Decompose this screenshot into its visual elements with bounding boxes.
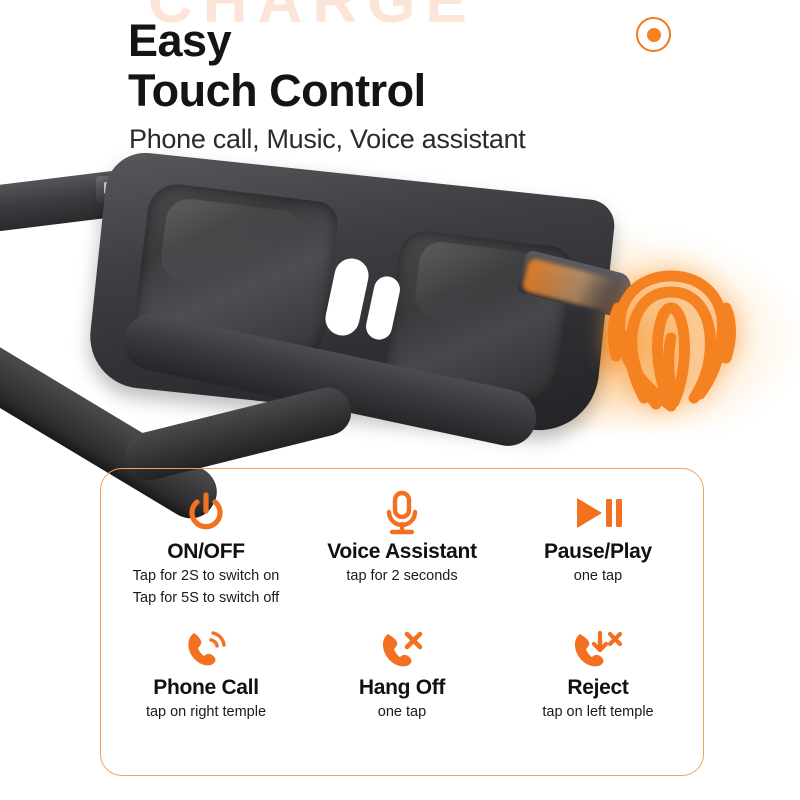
feature-grid: ON/OFF Tap for 2S to switch on Tap for 5… — [100, 468, 704, 776]
feature-sub-line2: Tap for 5S to switch off — [133, 589, 279, 608]
power-icon — [186, 490, 226, 536]
fingerprint-icon — [586, 238, 756, 413]
phone-hangup-icon — [380, 628, 424, 672]
microphone-icon — [383, 490, 421, 536]
feature-voice-assistant[interactable]: Voice Assistant tap for 2 seconds — [304, 490, 500, 624]
feature-hang-off[interactable]: Hang Off one tap — [304, 628, 500, 762]
phone-call-icon — [184, 628, 228, 672]
feature-title: Voice Assistant — [327, 540, 477, 564]
feature-sub-line1: Tap for 2S to switch on — [133, 567, 280, 586]
feature-title: Pause/Play — [544, 540, 652, 564]
feature-phone-call[interactable]: Phone Call tap on right temple — [108, 628, 304, 762]
play-pause-icon — [574, 490, 622, 536]
feature-reject[interactable]: Reject tap on left temple — [500, 628, 696, 762]
phone-reject-icon — [573, 628, 623, 672]
feature-sub-line1: tap on right temple — [146, 703, 266, 722]
feature-title: Reject — [567, 676, 628, 700]
feature-title: Hang Off — [359, 676, 445, 700]
feature-sub-line1: one tap — [574, 567, 622, 586]
feature-row-2: Phone Call tap on right temple Hang Off … — [108, 624, 696, 762]
feature-title: Phone Call — [153, 676, 259, 700]
feature-sub-line1: one tap — [378, 703, 426, 722]
feature-pause-play[interactable]: Pause/Play one tap — [500, 490, 696, 624]
infographic-page: CHARGE Easy Touch Control Phone call, Mu… — [0, 0, 800, 800]
feature-title: ON/OFF — [167, 540, 245, 564]
feature-on-off[interactable]: ON/OFF Tap for 2S to switch on Tap for 5… — [108, 490, 304, 624]
feature-row-1: ON/OFF Tap for 2S to switch on Tap for 5… — [108, 490, 696, 624]
feature-sub-line1: tap for 2 seconds — [346, 567, 457, 586]
feature-sub-line1: tap on left temple — [542, 703, 653, 722]
